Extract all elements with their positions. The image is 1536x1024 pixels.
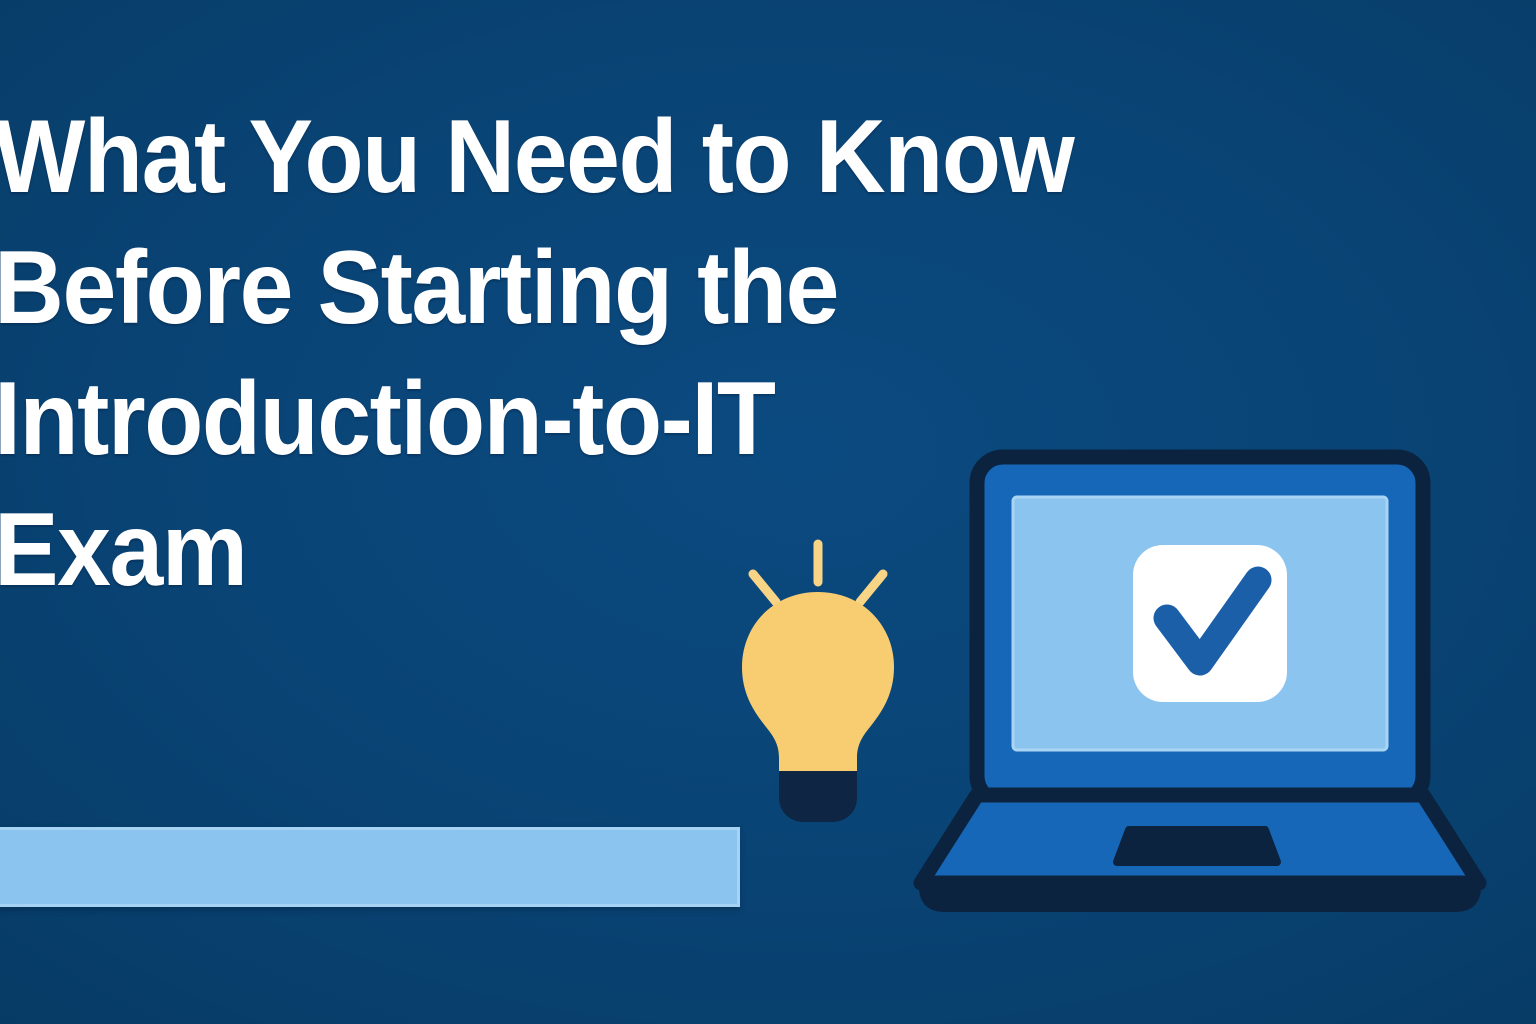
laptop-trackpad — [1117, 830, 1277, 862]
lightbulb-base — [779, 771, 857, 822]
hero-banner: What You Need to Know Before Starting th… — [0, 0, 1536, 1024]
laptop-lid — [977, 457, 1423, 802]
headline-line-1: What You Need to Know — [0, 92, 1166, 223]
lightbulb-icon — [718, 530, 918, 800]
laptop-with-checkmark-icon — [905, 440, 1495, 925]
laptop-front-lip — [919, 887, 1481, 912]
accent-bar — [0, 827, 740, 907]
lightbulb-glass — [742, 592, 894, 772]
lightbulb-ray-right — [860, 574, 883, 602]
headline-line-2: Before Starting the — [0, 223, 1166, 354]
lightbulb-ray-left — [753, 574, 776, 602]
